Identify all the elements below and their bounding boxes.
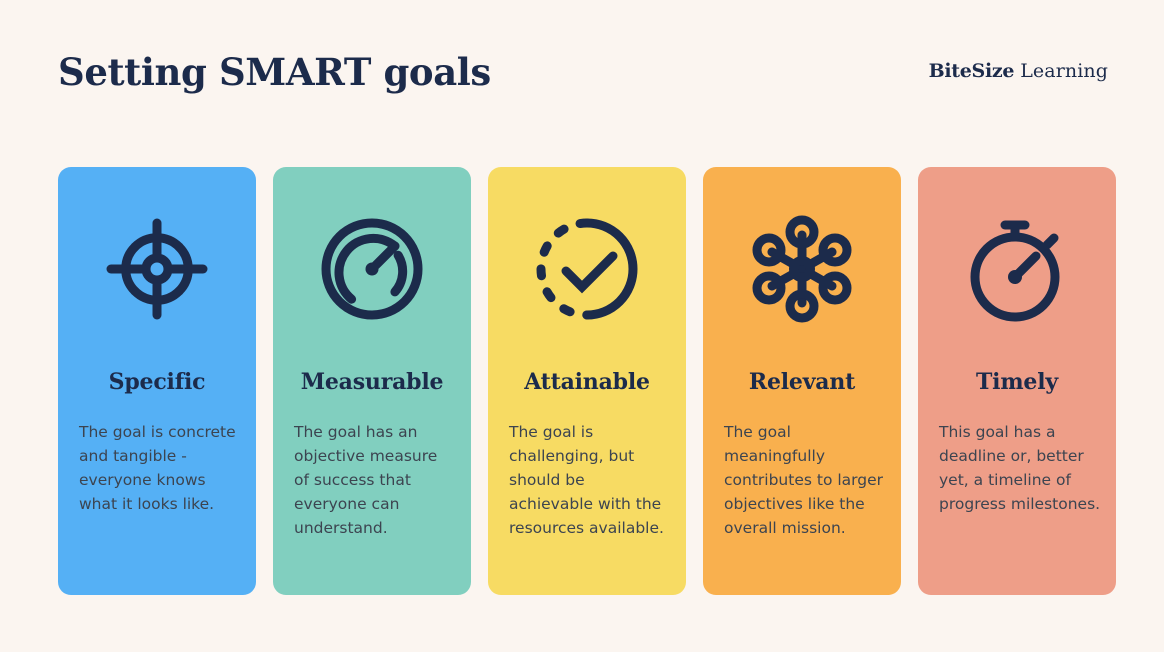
card-timely: Timely This goal has a deadline or, bett… — [918, 167, 1116, 595]
card-body-text: The goal has an objective measure of suc… — [294, 420, 456, 540]
card-heading: Relevant — [703, 369, 901, 395]
card-heading: Attainable — [488, 369, 686, 395]
card-heading: Measurable — [273, 369, 471, 395]
card-heading: Timely — [918, 369, 1116, 395]
card-body-text: The goal meaningfully contributes to lar… — [724, 420, 886, 540]
card-measurable: Measurable The goal has an objective mea… — [273, 167, 471, 595]
card-body-text: The goal is concrete and tangible - ever… — [79, 420, 241, 516]
brand-logo-bold: BiteSize — [929, 60, 1015, 82]
slide-header: Setting SMART goals BiteSize Learning — [0, 0, 1164, 140]
card-attainable: Attainable The goal is challenging, but … — [488, 167, 686, 595]
card-heading: Specific — [58, 369, 256, 395]
card-body-text: The goal is challenging, but should be a… — [509, 420, 671, 540]
check-circle-dashed-icon — [488, 205, 686, 333]
target-crosshair-icon — [58, 205, 256, 333]
brand-logo-regular: Learning — [1020, 60, 1108, 82]
page-title: Setting SMART goals — [58, 50, 491, 94]
card-body-text: This goal has a deadline or, better yet,… — [939, 420, 1101, 516]
brand-logo: BiteSize Learning — [929, 62, 1108, 81]
speedometer-gauge-icon — [273, 205, 471, 333]
network-hub-icon — [703, 205, 901, 333]
card-relevant: Relevant The goal meaningfully contribut… — [703, 167, 901, 595]
slide-canvas: Setting SMART goals BiteSize Learning Sp… — [0, 0, 1164, 652]
card-specific: Specific The goal is concrete and tangib… — [58, 167, 256, 595]
smart-goal-card-row: Specific The goal is concrete and tangib… — [58, 167, 1108, 595]
stopwatch-icon — [918, 205, 1116, 333]
